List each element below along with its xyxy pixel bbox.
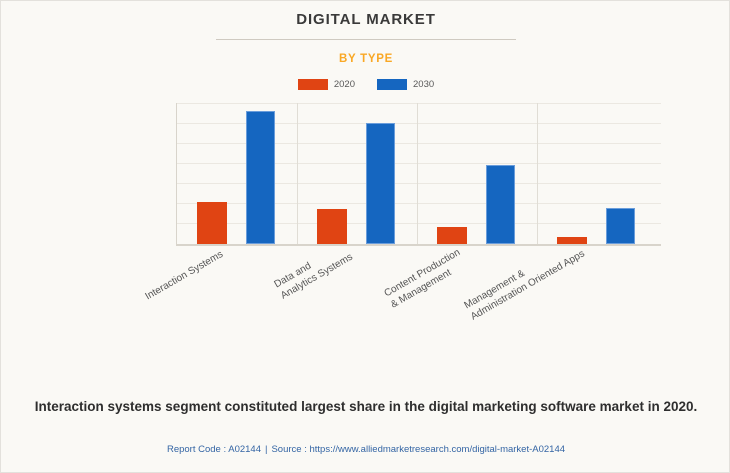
bar-interaction-systems-2030[interactable] xyxy=(246,111,275,244)
legend-item-2030[interactable]: 2030 xyxy=(377,79,434,90)
x-axis-label-content-production: Content Production & Management xyxy=(382,246,469,311)
bar-content-production-2020[interactable] xyxy=(437,227,467,244)
category-separator xyxy=(537,103,538,244)
bar-data-analytics-systems-2020[interactable] xyxy=(317,209,347,244)
y-axis-line xyxy=(176,103,177,244)
caption-line-1: Interaction systems segment constituted … xyxy=(35,399,596,414)
legend-swatch-2020-icon xyxy=(298,79,328,90)
title-divider xyxy=(216,39,516,40)
bar-interaction-systems-2020[interactable] xyxy=(197,202,227,244)
legend-label-2020: 2020 xyxy=(334,79,355,90)
bar-management-administration-2030[interactable] xyxy=(606,208,635,244)
x-axis-label-interaction-systems: Interaction Systems xyxy=(143,248,226,303)
legend-item-2020[interactable]: 2020 xyxy=(298,79,355,90)
bar-data-analytics-systems-2030[interactable] xyxy=(366,123,395,244)
page-title: DIGITAL MARKET xyxy=(1,11,730,28)
x-axis-labels: Interaction Systems Data and Analytics S… xyxy=(1,244,730,364)
legend-swatch-2030-icon xyxy=(377,79,407,90)
bar-content-production-2030[interactable] xyxy=(486,165,515,244)
report-code: Report Code : A02144 xyxy=(167,444,261,455)
chart-caption: Interaction systems segment constituted … xyxy=(29,397,703,417)
caption-line-2: market in 2020. xyxy=(600,399,698,414)
source-link[interactable]: Source : https://www.alliedmarketresearc… xyxy=(271,444,565,455)
x-axis-label-data-analytics-systems: Data and Analytics Systems xyxy=(272,239,355,302)
chart-subtitle: BY TYPE xyxy=(1,53,730,65)
x-label-line: Management & xyxy=(462,236,581,312)
gridline xyxy=(176,103,661,104)
x-label-line: Interaction Systems xyxy=(143,248,226,303)
category-separator xyxy=(417,103,418,244)
x-axis-label-management-administration: Management & Administration Oriented App… xyxy=(462,236,587,323)
legend-label-2030: 2030 xyxy=(413,79,434,90)
chart-plot-area xyxy=(176,103,661,244)
category-separator xyxy=(297,103,298,244)
chart-footer: Report Code : A02144|Source : https://ww… xyxy=(1,444,730,455)
infographic-card: DIGITAL MARKET BY TYPE 2020 2030 xyxy=(0,0,730,473)
chart-legend: 2020 2030 xyxy=(1,79,730,90)
footer-separator: | xyxy=(265,444,267,455)
